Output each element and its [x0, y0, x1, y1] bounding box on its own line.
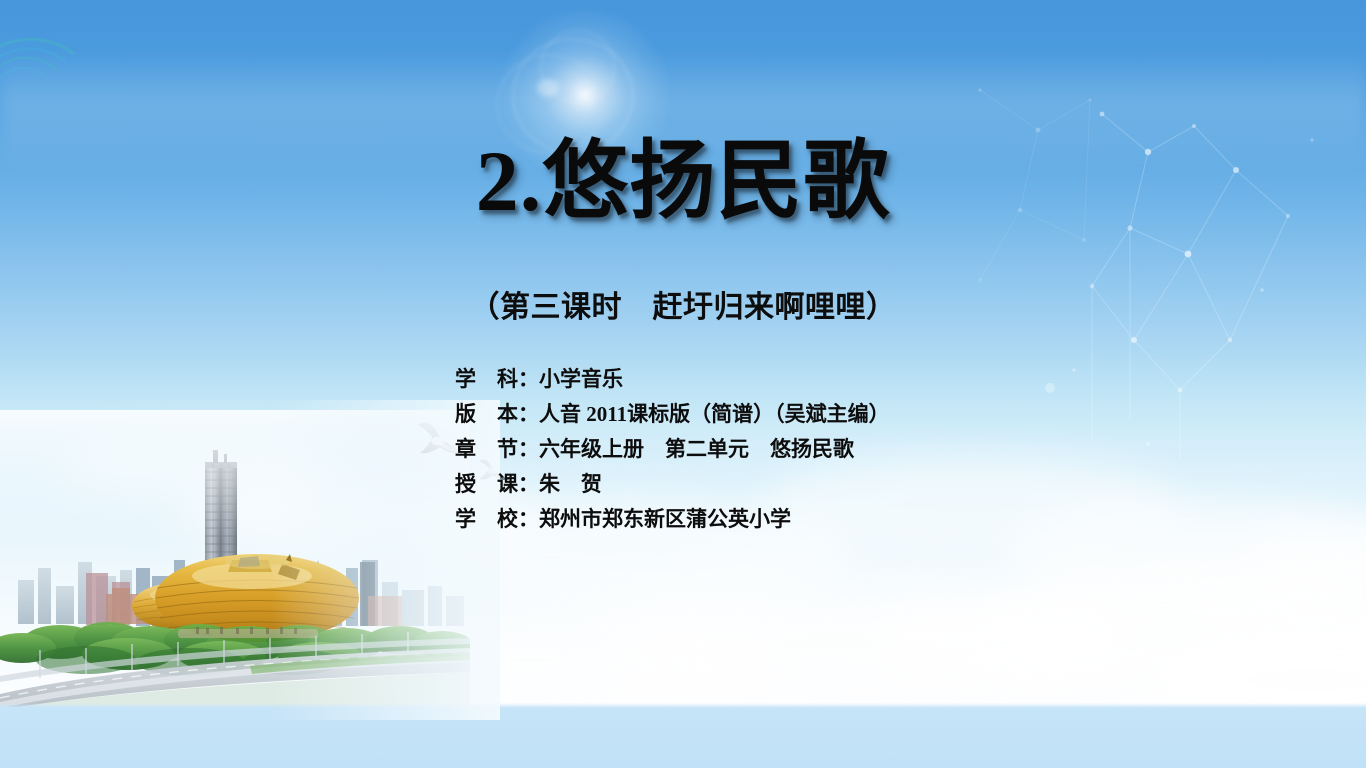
slide-content: 2.悠扬民歌 （第三课时 赶圩归来啊哩哩） 学 科：小学音乐 版 本：人音 20…	[0, 0, 1366, 768]
slide-subtitle: （第三课时 赶圩归来啊哩哩）	[0, 282, 1366, 326]
meta-line-teacher: 授 课：朱 贺	[455, 467, 890, 502]
course-meta-block: 学 科：小学音乐 版 本：人音 2011课标版（简谱）（吴斌主编） 章 节：六年…	[455, 362, 890, 537]
meta-line-school: 学 校：郑州市郑东新区蒲公英小学	[455, 502, 890, 537]
page-title: 2.悠扬民歌	[0, 138, 1366, 224]
meta-line-subject: 学 科：小学音乐	[455, 362, 890, 397]
meta-line-chapter: 章 节：六年级上册 第二单元 悠扬民歌	[455, 432, 890, 467]
presentation-slide: 2.悠扬民歌 （第三课时 赶圩归来啊哩哩） 学 科：小学音乐 版 本：人音 20…	[0, 0, 1366, 768]
meta-line-edition: 版 本：人音 2011课标版（简谱）（吴斌主编）	[455, 397, 890, 432]
